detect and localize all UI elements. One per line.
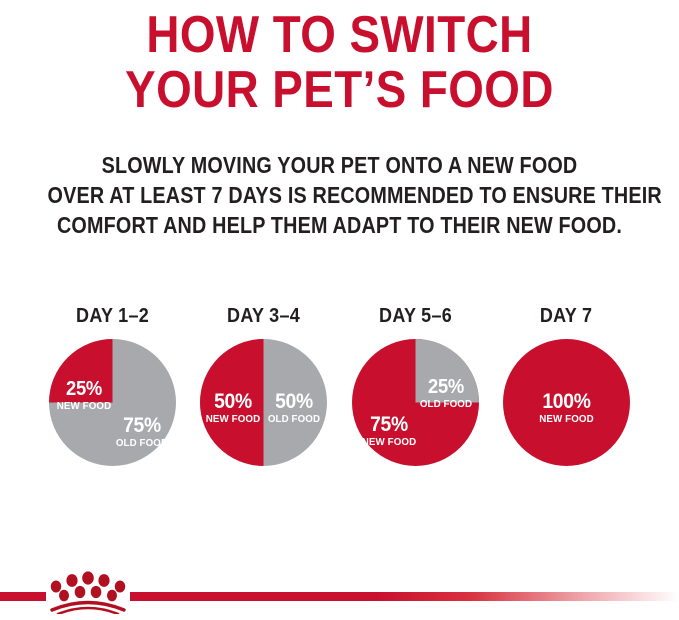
pie-chart-day-3-4: 50% NEW FOOD 50% OLD FOOD (200, 339, 327, 466)
day-label-4: DAY 7 (540, 305, 592, 327)
pie-svg-2 (200, 339, 327, 466)
pie-svg-1 (49, 339, 176, 466)
infographic-page: HOW TO SWITCH YOUR PET’S FOOD SLOWLY MOV… (0, 0, 679, 620)
day-label-3: DAY 5–6 (379, 305, 452, 327)
subtitle-line-1: SLOWLY MOVING YOUR PET ONTO A NEW FOOD (48, 150, 632, 180)
pie-cell-day-1-2: DAY 1–2 25% NEW FOOD 75% OLD FOOD (45, 305, 180, 485)
footer-bar-left (0, 592, 46, 601)
day-label-1: DAY 1–2 (76, 305, 149, 327)
pie-chart-row: DAY 1–2 25% NEW FOOD 75% OLD FOOD DAY (0, 305, 679, 485)
footer (0, 558, 679, 620)
pie-chart-day-7: 100% NEW FOOD (503, 339, 630, 466)
subtitle-line-3: COMFORT AND HELP THEM ADAPT TO THEIR NEW… (48, 210, 632, 240)
pie-slice-new-food-1 (49, 339, 113, 403)
pie-svg-4 (503, 339, 630, 466)
pie-chart-day-1-2: 25% NEW FOOD 75% OLD FOOD (49, 339, 176, 466)
royal-canin-crown-logo-icon (46, 570, 130, 614)
footer-bar-right (130, 592, 679, 601)
pie-chart-day-5-6: 25% OLD FOOD 75% NEW FOOD (352, 339, 479, 466)
pie-slice-new-food-2 (200, 339, 264, 466)
page-title: HOW TO SWITCH YOUR PET’S FOOD (0, 8, 679, 118)
title-line-1: HOW TO SWITCH (41, 8, 639, 63)
pie-cell-day-5-6: DAY 5–6 25% OLD FOOD 75% NEW FOOD (348, 305, 483, 485)
day-label-2: DAY 3–4 (227, 305, 300, 327)
subtitle-line-2: OVER AT LEAST 7 DAYS IS RECOMMENDED TO E… (48, 180, 632, 210)
pie-cell-day-3-4: DAY 3–4 50% NEW FOOD 50% OLD FOOD (196, 305, 331, 485)
title-line-2: YOUR PET’S FOOD (41, 63, 639, 118)
pie-svg-3 (352, 339, 479, 466)
pie-slice-new-food-4 (503, 339, 630, 466)
pie-slice-old-food-3 (415, 339, 479, 403)
pie-cell-day-7: DAY 7 100% NEW FOOD (499, 305, 634, 485)
crown-logo-svg (46, 570, 130, 614)
subtitle: SLOWLY MOVING YOUR PET ONTO A NEW FOOD O… (0, 150, 679, 240)
